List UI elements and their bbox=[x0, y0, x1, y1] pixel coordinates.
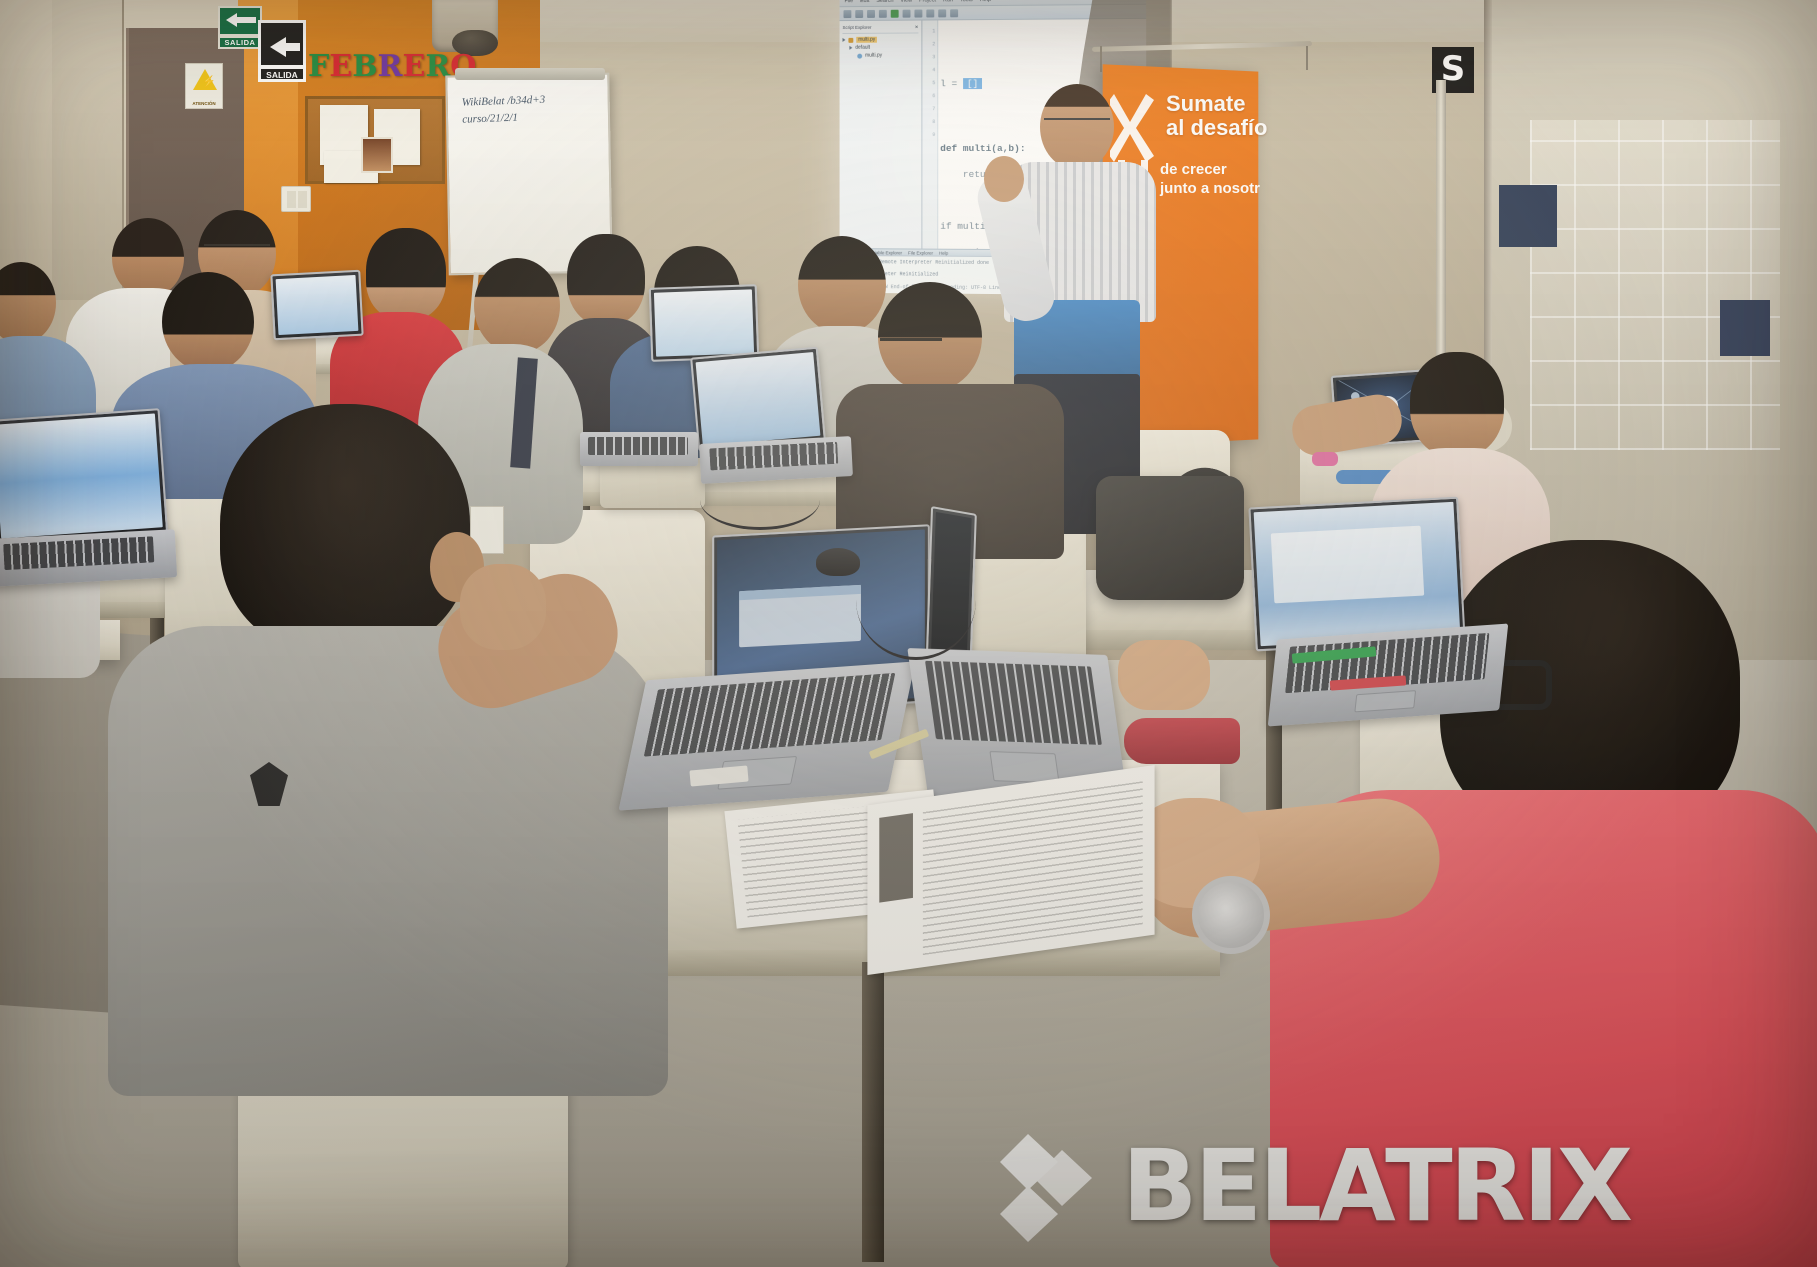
cable bbox=[700, 470, 820, 530]
bracelet bbox=[1312, 452, 1338, 466]
attendee-head bbox=[220, 404, 470, 654]
tree-item[interactable]: multi.py bbox=[843, 52, 919, 58]
paper-header-block bbox=[879, 813, 913, 903]
laptop-base-right bbox=[1268, 623, 1509, 726]
tree-item[interactable]: default bbox=[843, 44, 919, 50]
board-photo bbox=[361, 137, 393, 173]
banner-sub-line-2: junto a nosotr bbox=[1160, 179, 1280, 198]
classroom-photo-scene: SALIDA SALIDA ⚡ ATENCIÓN S F E B R E R O… bbox=[0, 0, 1817, 1267]
ide-menu-item[interactable]: Search bbox=[876, 0, 893, 3]
banner-string-right bbox=[1306, 46, 1308, 70]
laptop-keyboard[interactable] bbox=[588, 437, 688, 455]
line-number: 8 bbox=[922, 116, 935, 129]
attendee-dark-shirt-leaning bbox=[836, 282, 1066, 542]
laptop-base-foreground-left bbox=[618, 661, 915, 810]
electrical-hazard-sign: ⚡ ATENCIÓN bbox=[185, 63, 223, 109]
tree-close-icon[interactable]: ✕ bbox=[915, 25, 919, 31]
exit-sign-black bbox=[258, 20, 306, 68]
laptop-keyboard[interactable] bbox=[3, 536, 154, 570]
glasses-icon bbox=[880, 338, 942, 348]
laptop-display bbox=[276, 275, 359, 335]
toolbar-icon[interactable] bbox=[867, 9, 875, 17]
toolbar-icon[interactable] bbox=[926, 9, 934, 17]
ide-menu-item[interactable]: File bbox=[844, 0, 853, 4]
laptop-display bbox=[696, 352, 821, 446]
belatrix-watermark: BELATRIX bbox=[1000, 1122, 1800, 1252]
ide-project-tree[interactable]: Script Explorer ✕ multi.py default multi… bbox=[840, 20, 923, 255]
flipchart-handwriting: WikiBelat /b34d+3 curso/21/2/1 bbox=[461, 89, 612, 128]
febrero-wall-letters: F E B R E R O bbox=[308, 48, 453, 86]
laptop-base-center-a bbox=[580, 432, 698, 466]
laptop-keyboard[interactable] bbox=[644, 673, 896, 757]
toolbar-icon[interactable] bbox=[938, 9, 946, 17]
laptop-display bbox=[1254, 502, 1461, 646]
line-number: 5 bbox=[922, 77, 935, 90]
tree-title: Script Explorer bbox=[843, 25, 872, 31]
line-number: 4 bbox=[922, 64, 935, 77]
month-letter: R bbox=[378, 52, 402, 82]
attendee-right-leg bbox=[1118, 640, 1210, 710]
month-letter: B bbox=[352, 52, 376, 82]
toolbar-icon[interactable] bbox=[903, 9, 911, 17]
ide-menu-item[interactable]: Project bbox=[919, 0, 936, 3]
laptop-keyboard[interactable] bbox=[709, 442, 838, 471]
line-number: 3 bbox=[922, 51, 935, 64]
banner-headline-line-2: al desafío bbox=[1166, 116, 1278, 140]
mouse[interactable] bbox=[816, 548, 860, 576]
handbag bbox=[1096, 476, 1244, 600]
month-letter: E bbox=[402, 52, 424, 82]
laptop-trackpad[interactable] bbox=[989, 751, 1059, 783]
tree-item[interactable]: multi.py bbox=[843, 36, 919, 42]
toolbar-icon[interactable] bbox=[879, 9, 887, 17]
line-number: 7 bbox=[922, 103, 935, 116]
laptop-window bbox=[1271, 526, 1424, 604]
ide-menu-item[interactable]: Run bbox=[943, 0, 953, 3]
code-token: l = bbox=[940, 78, 963, 89]
tree-item-label: multi.py bbox=[865, 53, 882, 59]
laptop-display bbox=[0, 413, 163, 538]
exit-arrow-tail bbox=[236, 17, 256, 23]
banner-sub-line-1: de crecer bbox=[1160, 160, 1280, 179]
banner-headline-line-1: Sumate bbox=[1166, 92, 1278, 116]
paper-text-lines bbox=[923, 781, 1143, 955]
tree-header: Script Explorer ✕ bbox=[843, 25, 919, 34]
laptop-keyboard[interactable] bbox=[925, 661, 1102, 745]
attendee-head bbox=[1410, 352, 1504, 458]
glasses-icon bbox=[204, 244, 270, 254]
banner-sub-line-2-a: junto a bbox=[1160, 180, 1213, 197]
banner-sub-line-2-b: nosotr bbox=[1213, 180, 1260, 197]
ide-menu-item[interactable]: Edit bbox=[860, 0, 869, 4]
code-selection: [] bbox=[963, 78, 982, 89]
table-leg bbox=[862, 962, 884, 1262]
toolbar-icon[interactable] bbox=[855, 10, 863, 18]
ide-menu-item[interactable]: Tools bbox=[960, 0, 973, 3]
toolbar-icon[interactable] bbox=[843, 10, 851, 18]
banner-headline: Sumate al desafío bbox=[1166, 92, 1278, 140]
attendee-head bbox=[878, 282, 982, 392]
hazard-sign-label: ATENCIÓN bbox=[186, 101, 222, 106]
tiled-wall-right bbox=[1530, 120, 1780, 450]
glasses-icon bbox=[1044, 118, 1110, 130]
line-number: 6 bbox=[922, 90, 935, 103]
attendee-torso bbox=[108, 626, 668, 1096]
laptop-screen-center-b bbox=[690, 347, 826, 452]
attendee-head bbox=[474, 258, 560, 354]
line-number: 9 bbox=[922, 129, 935, 142]
ide-menu-item[interactable]: Help bbox=[980, 0, 991, 3]
toolbar-icon[interactable] bbox=[950, 9, 958, 17]
laptop-screen-center-a bbox=[649, 284, 760, 362]
month-letter: E bbox=[329, 52, 351, 82]
line-number: 2 bbox=[922, 38, 935, 51]
tree-item-label: multi.py bbox=[856, 37, 877, 43]
line-number: 1 bbox=[922, 25, 935, 38]
exit-sign-black-label: SALIDA bbox=[258, 66, 306, 82]
belatrix-diamond-icon bbox=[1000, 1128, 1100, 1246]
light-switch[interactable] bbox=[281, 186, 311, 212]
ide-line-numbers: 1 2 3 4 5 6 7 8 9 bbox=[922, 20, 938, 255]
attendee-head bbox=[162, 272, 254, 372]
attendee-hand bbox=[460, 564, 546, 650]
wall-decor-square-2 bbox=[1720, 300, 1770, 356]
laptop-screen-left bbox=[0, 408, 168, 544]
lightning-bolt-icon: ⚡ bbox=[202, 77, 216, 88]
toolbar-icon[interactable] bbox=[914, 9, 922, 17]
red-shoe bbox=[1124, 718, 1240, 764]
laptop-base-left bbox=[0, 529, 177, 587]
cable bbox=[856, 540, 976, 660]
belatrix-wordmark: BELATRIX bbox=[1122, 1137, 1630, 1237]
presenter-hand bbox=[984, 156, 1024, 202]
laptop-screen-left-back bbox=[270, 270, 363, 341]
exit-sign-green-label: SALIDA bbox=[218, 36, 262, 49]
attendee-head bbox=[0, 262, 56, 344]
banner-subtext: de crecer junto a nosotr bbox=[1160, 160, 1280, 198]
run-icon[interactable] bbox=[891, 9, 899, 17]
exit-sign-green bbox=[218, 6, 262, 36]
month-letter: F bbox=[308, 52, 328, 82]
exit-arrow-tail-2 bbox=[283, 43, 300, 51]
tree-item-label: default bbox=[855, 45, 870, 51]
laptop-trackpad[interactable] bbox=[1354, 690, 1416, 712]
wall-decor-square-1 bbox=[1499, 185, 1557, 247]
wristwatch bbox=[1192, 876, 1270, 954]
attendee-foreground-gray bbox=[108, 404, 668, 1104]
flipchart-clip bbox=[455, 68, 605, 80]
ide-menu-item[interactable]: View bbox=[900, 0, 912, 3]
laptop-display bbox=[654, 289, 754, 356]
